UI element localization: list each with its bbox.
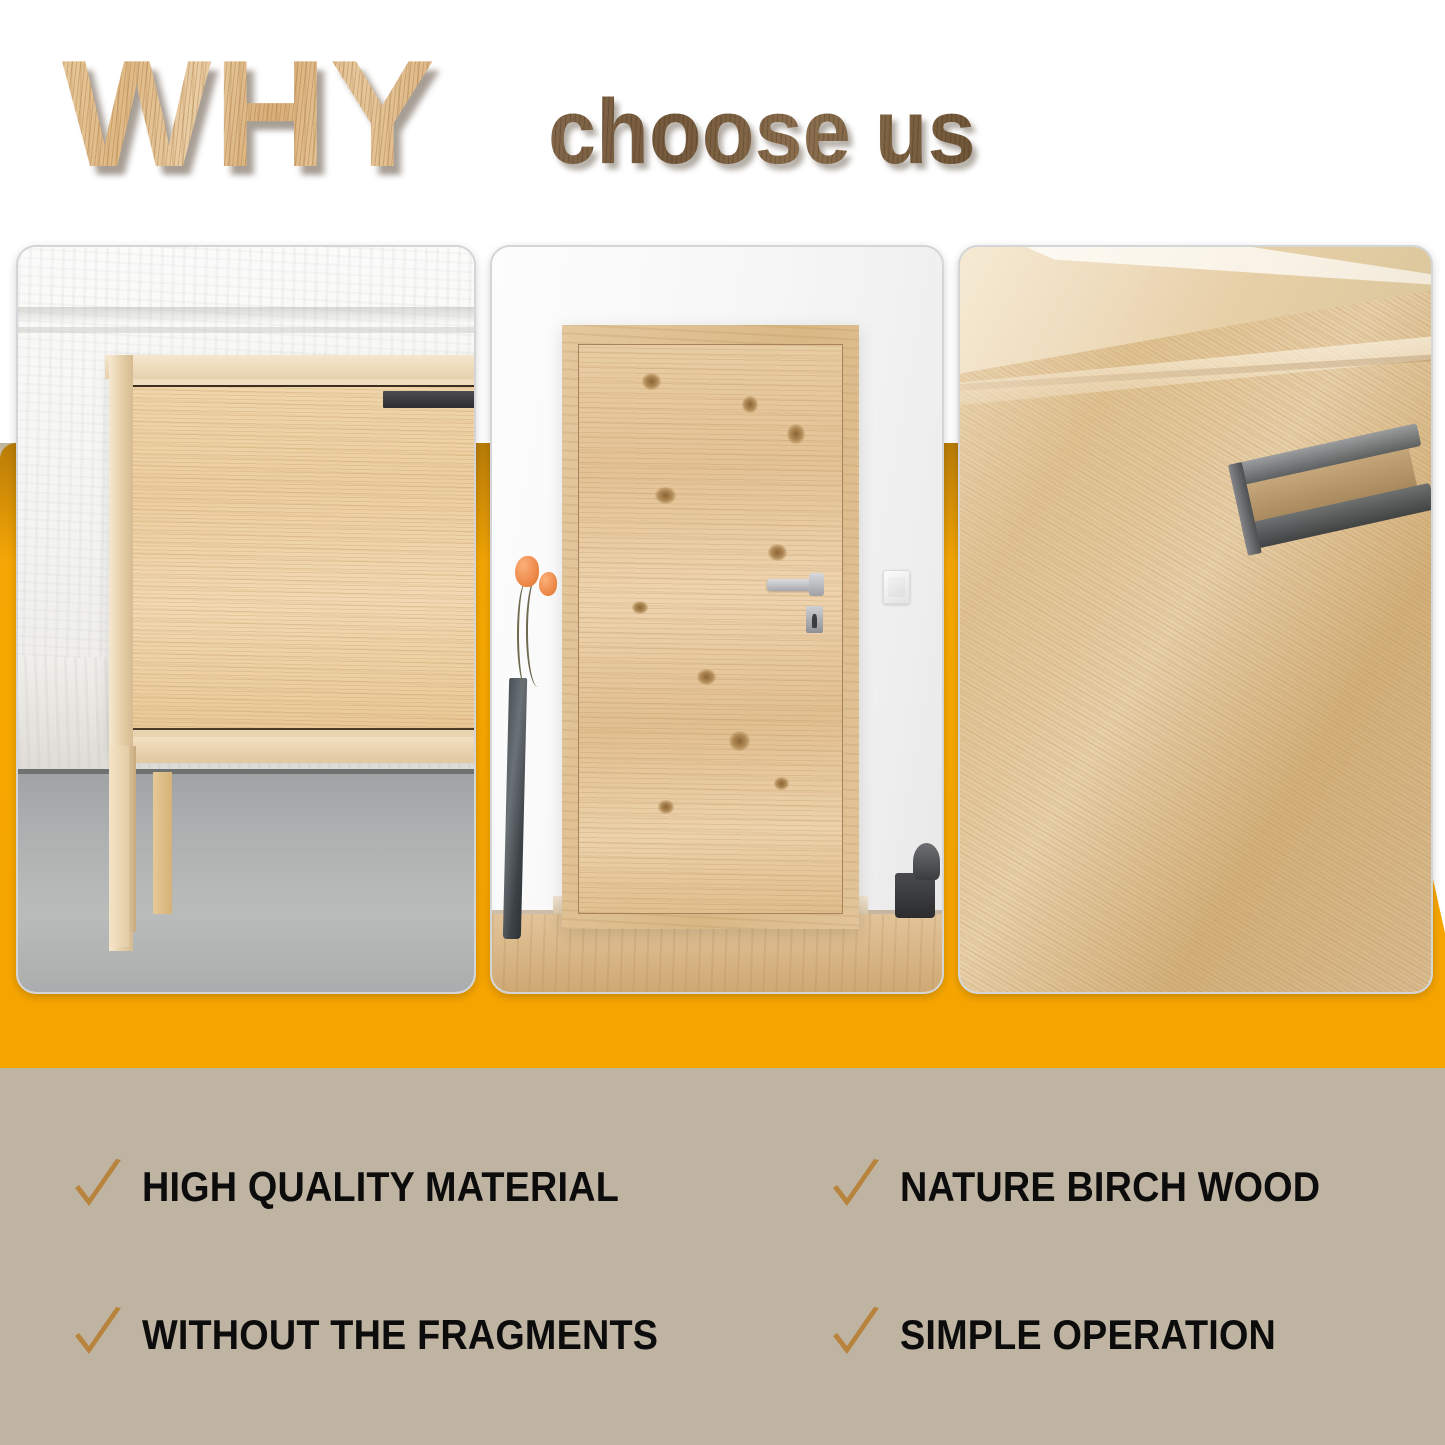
drawer-handle-closeup-photo: [960, 247, 1431, 992]
infographic-page: WHY choose us: [0, 0, 1445, 1445]
sideboard-photo: [18, 247, 474, 992]
check-icon: [830, 1158, 882, 1216]
check-icon: [830, 1306, 882, 1364]
feature-item-without-the-fragments: WITHOUT THE FRAGMENTS: [72, 1306, 715, 1364]
feature-item-high-quality-material: HIGH QUALITY MATERIAL: [72, 1158, 672, 1216]
flower-petal: [539, 572, 557, 596]
photo-gallery: [0, 245, 1445, 990]
oak-door-photo: [492, 247, 942, 992]
gallery-card-oak-door[interactable]: [490, 245, 944, 994]
gallery-card-drawer-closeup[interactable]: [958, 245, 1433, 994]
feature-label: HIGH QUALITY MATERIAL: [142, 1165, 619, 1209]
gallery-card-sideboard[interactable]: [16, 245, 476, 994]
feature-list: HIGH QUALITY MATERIAL NATURE BIRCH WOOD …: [0, 1068, 1445, 1445]
cabinet-handle: [383, 391, 474, 408]
feature-label: WITHOUT THE FRAGMENTS: [142, 1313, 658, 1357]
feature-item-nature-birch-wood: NATURE BIRCH WOOD: [830, 1158, 1367, 1216]
page-title-primary: WHY: [62, 38, 437, 190]
page-title-secondary: choose us: [548, 86, 976, 178]
check-icon: [72, 1306, 124, 1364]
header: WHY choose us: [0, 0, 1445, 215]
feature-label: SIMPLE OPERATION: [900, 1313, 1276, 1357]
flower-petal: [515, 556, 538, 587]
feature-item-simple-operation: SIMPLE OPERATION: [830, 1306, 1318, 1364]
feature-label: NATURE BIRCH WOOD: [900, 1165, 1320, 1209]
check-icon: [72, 1158, 124, 1216]
light-switch: [883, 570, 910, 603]
